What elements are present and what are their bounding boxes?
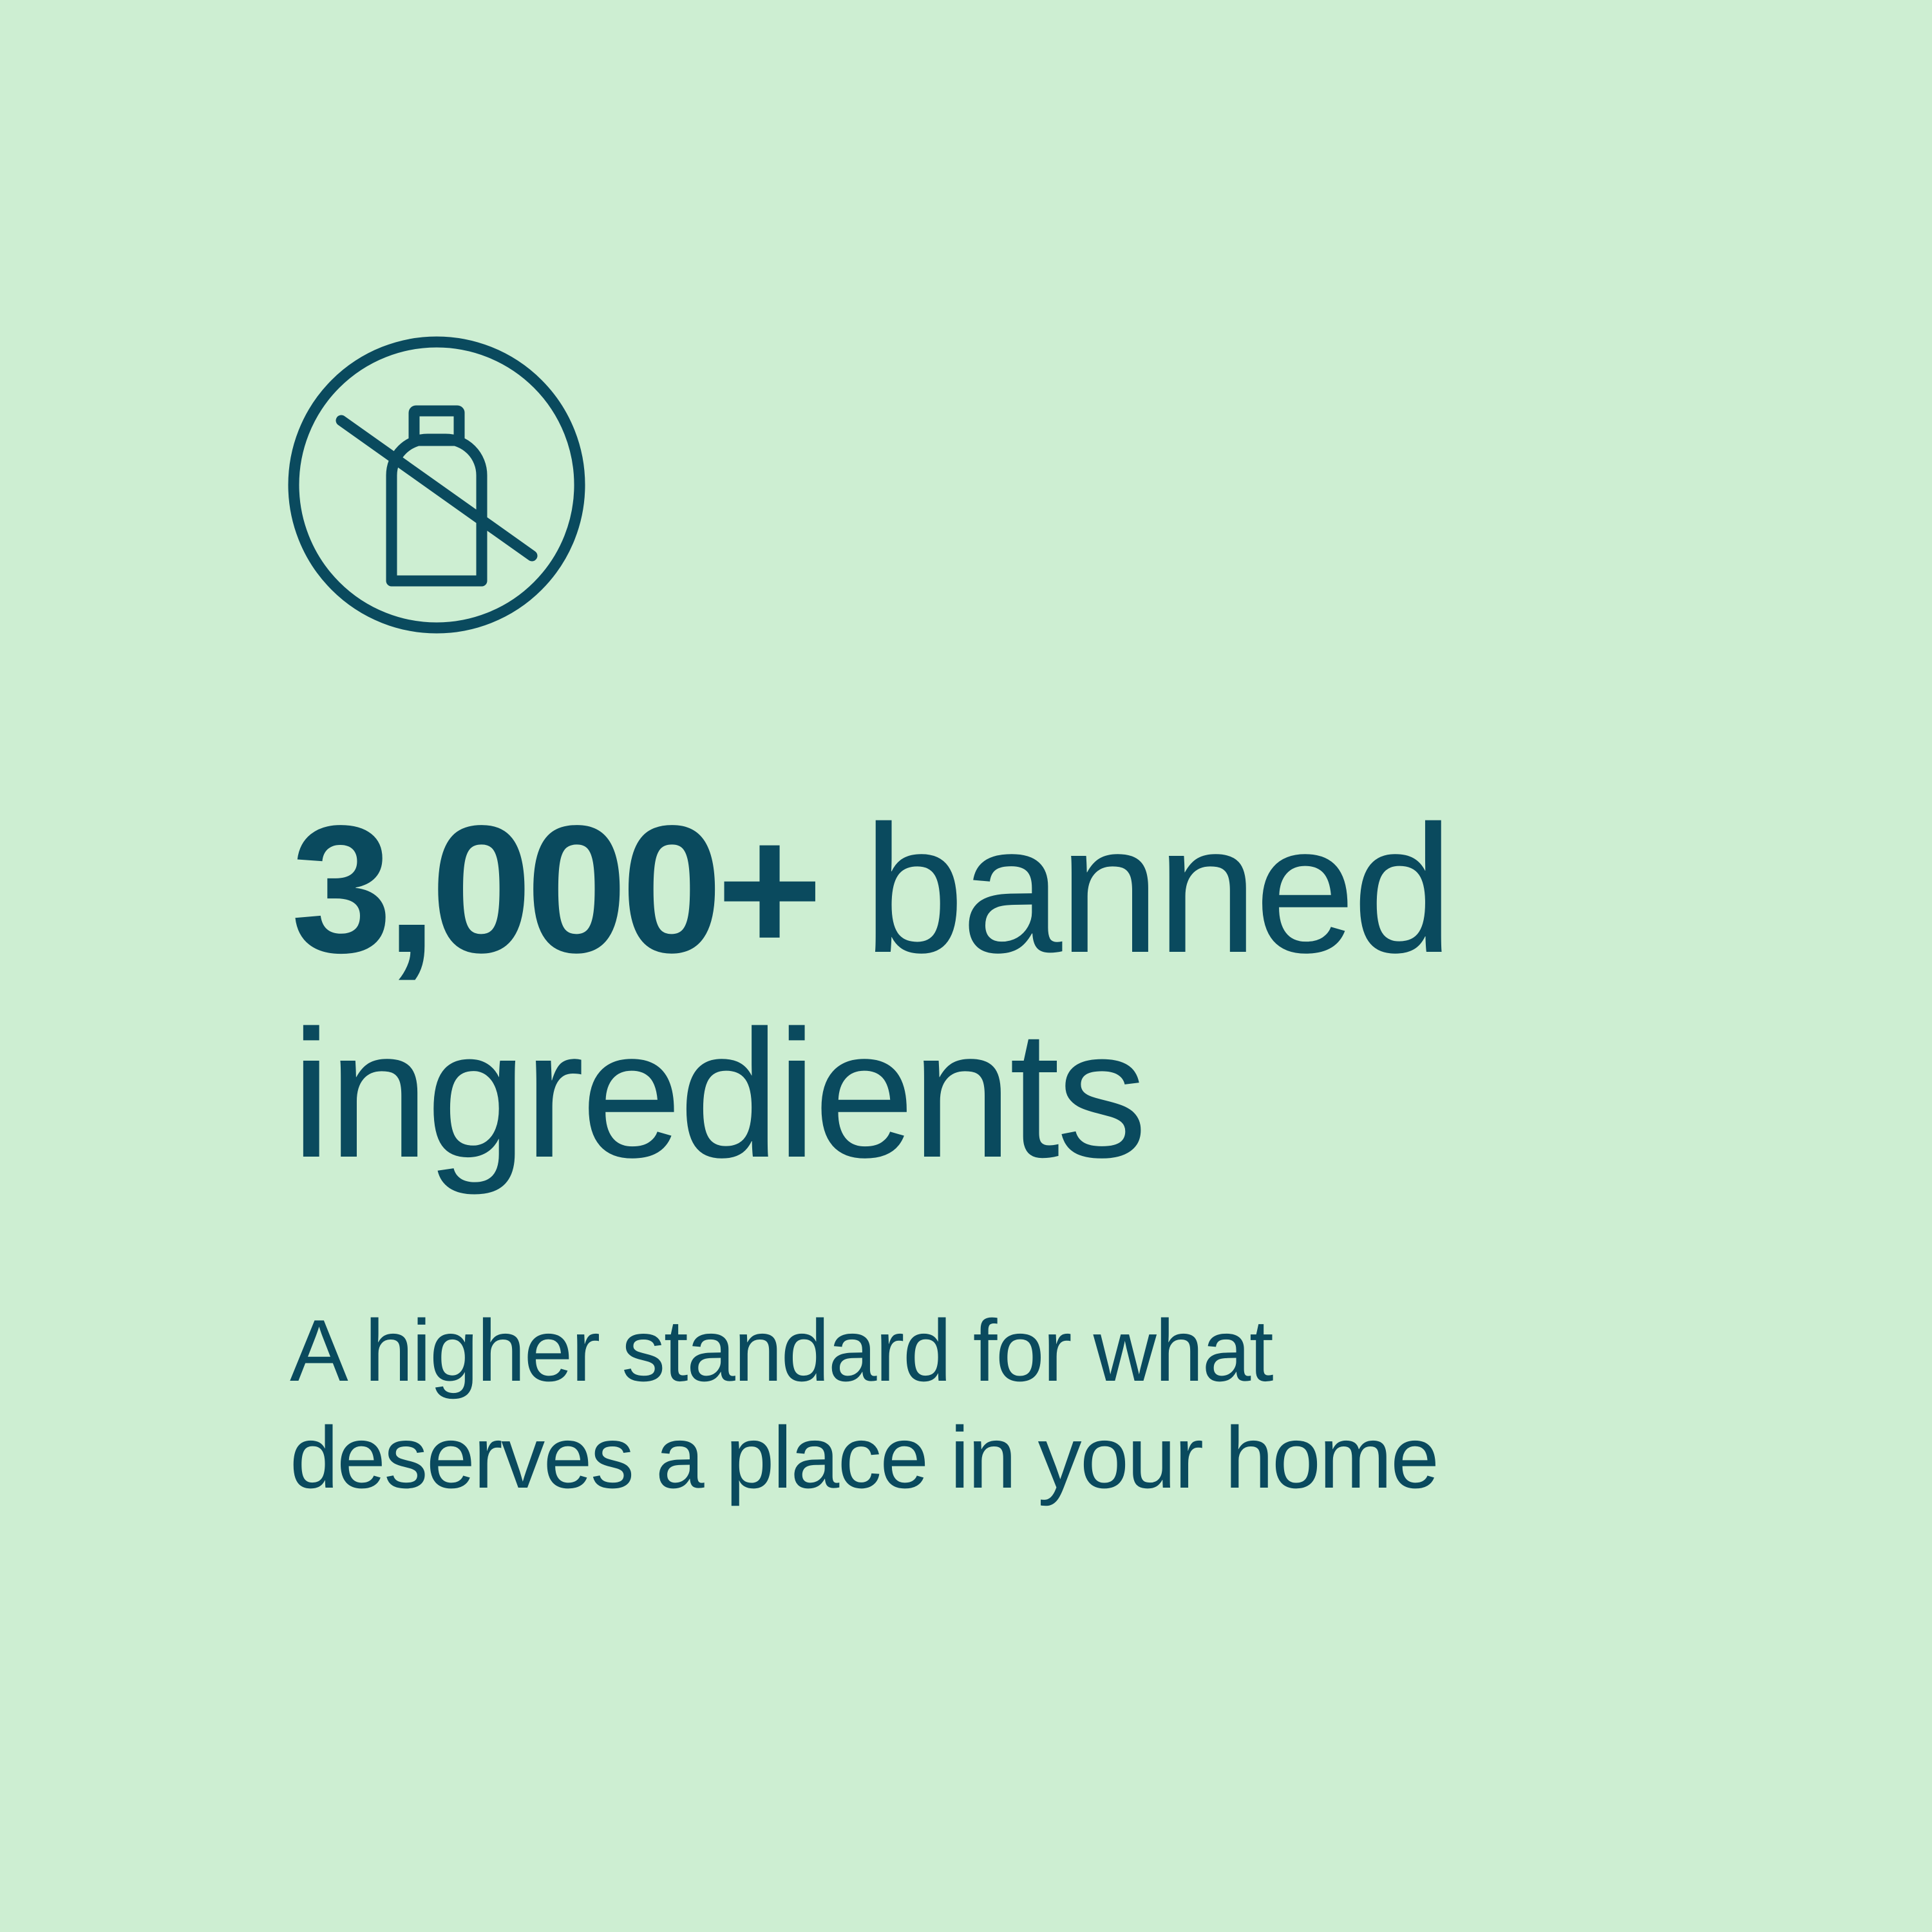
page-subtitle: A higher standard for whatdeserves a pla… xyxy=(290,1297,1771,1511)
subtitle-line-2: deserves a place in your home xyxy=(290,1408,1438,1506)
no-bottle-icon-svg xyxy=(288,336,585,634)
headline-stat: 3,000+ xyxy=(291,788,817,990)
bottle-cap xyxy=(414,411,459,440)
promo-card: 3,000+ banned ingredients A higher stand… xyxy=(0,0,1932,1932)
subtitle-line-1: A higher standard for what xyxy=(290,1302,1272,1399)
no-bottle-icon xyxy=(288,336,585,634)
headline-space xyxy=(817,788,863,990)
page-title: 3,000+ banned ingredients xyxy=(291,787,1785,1197)
